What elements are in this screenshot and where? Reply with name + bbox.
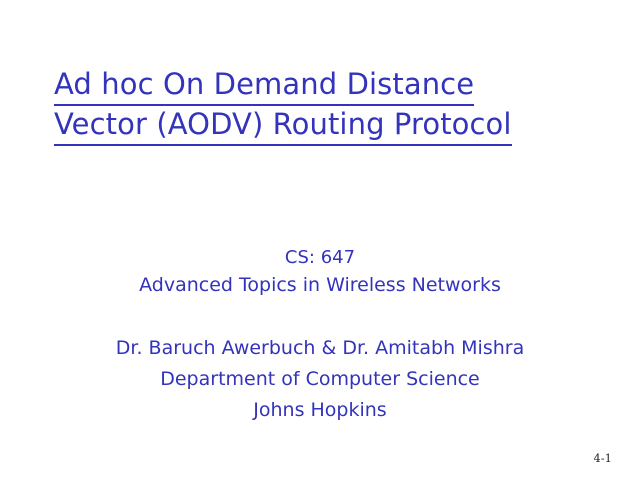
title-line-2-text: Vector (AODV) Routing Protocol (54, 107, 512, 146)
author-department: Department of Computer Science (0, 364, 640, 395)
author-institution: Johns Hopkins (0, 395, 640, 426)
course-info: CS: 647 Advanced Topics in Wireless Netw… (0, 244, 640, 299)
title-line-1: Ad hoc On Demand Distance (54, 64, 594, 104)
course-name: Advanced Topics in Wireless Networks (0, 271, 640, 299)
slide-title: Ad hoc On Demand Distance Vector (AODV) … (54, 64, 594, 144)
page-number: 4-1 (594, 452, 612, 465)
title-line-1-text: Ad hoc On Demand Distance (54, 67, 474, 106)
author-presenters: Dr. Baruch Awerbuch & Dr. Amitabh Mishra (0, 333, 640, 364)
slide-canvas: Ad hoc On Demand Distance Vector (AODV) … (0, 0, 640, 480)
author-info: Dr. Baruch Awerbuch & Dr. Amitabh Mishra… (0, 333, 640, 426)
course-code: CS: 647 (0, 244, 640, 271)
title-line-2: Vector (AODV) Routing Protocol (54, 104, 594, 144)
